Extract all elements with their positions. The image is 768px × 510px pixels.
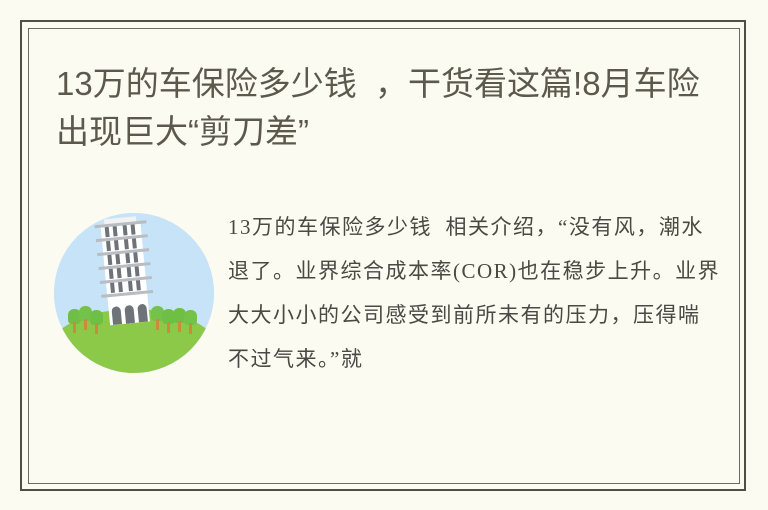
illustration-circle xyxy=(54,213,214,373)
leaning-tower-icon xyxy=(92,215,164,326)
article-illustration xyxy=(54,213,219,373)
article-title: 13万的车保险多少钱 ，干货看这篇!8月车险出现巨大“剪刀差” xyxy=(56,60,716,156)
tree-icon xyxy=(184,310,197,334)
article-content: 13万的车保险多少钱 ，干货看这篇!8月车险出现巨大“剪刀差” xyxy=(50,50,722,462)
article-body-row: 13万的车保险多少钱 相关介绍，“没有风，潮水退了。业界综合成本率(COR)也在… xyxy=(50,205,722,455)
article-page: 13万的车保险多少钱 ，干货看这篇!8月车险出现巨大“剪刀差” xyxy=(0,0,768,510)
article-body-text: 13万的车保险多少钱 相关介绍，“没有风，潮水退了。业界综合成本率(COR)也在… xyxy=(228,205,722,381)
